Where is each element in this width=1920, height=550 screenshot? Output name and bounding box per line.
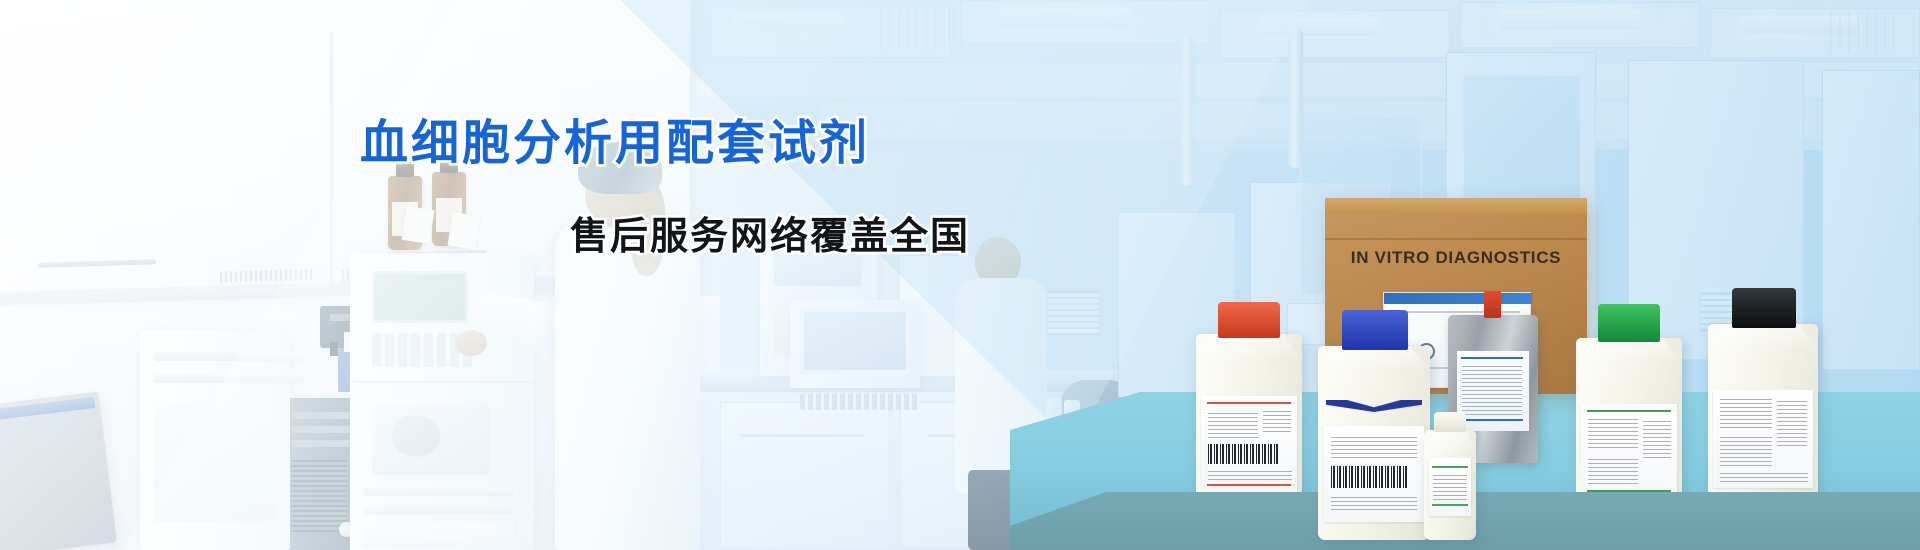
reagent-bottle-black-cap bbox=[1708, 324, 1818, 514]
banner-headline: 血细胞分析用配套试剂 bbox=[360, 103, 870, 173]
reagent-bottle-blue-cap bbox=[1318, 346, 1430, 540]
reagent-vial-small bbox=[1424, 430, 1476, 540]
reagent-bottle-red-cap bbox=[1196, 334, 1302, 516]
banner-subheadline: 售后服务网络覆盖全国 bbox=[570, 205, 970, 260]
promotional-banner: IN VITRO DIAGNOSTICS ISO bbox=[0, 0, 1920, 550]
carton-label-text: IN VITRO DIAGNOSTICS bbox=[1325, 248, 1587, 268]
